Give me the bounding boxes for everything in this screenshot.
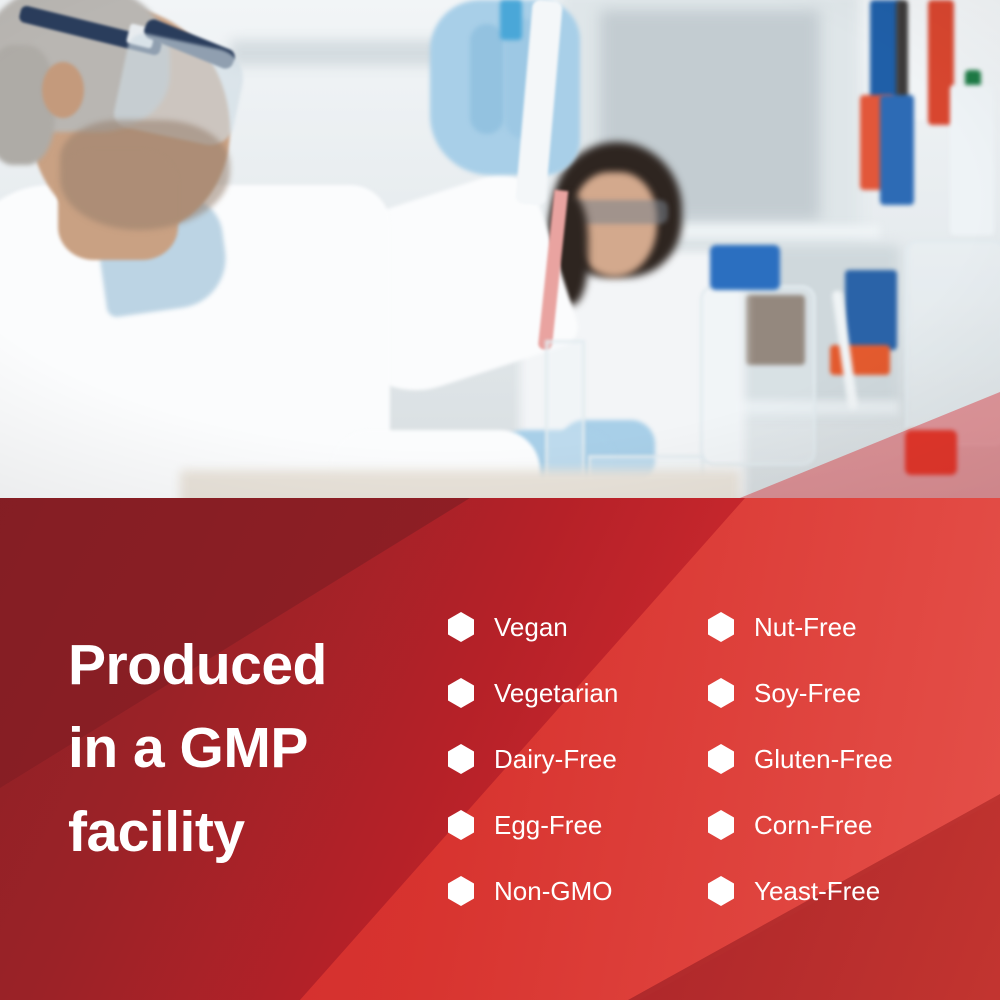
claim-item-corn-free: Corn-Free bbox=[708, 792, 968, 858]
claim-label: Non-GMO bbox=[494, 878, 612, 904]
headline-line-1: Produced bbox=[68, 624, 428, 707]
claim-label: Yeast-Free bbox=[754, 878, 880, 904]
claim-label: Vegan bbox=[494, 614, 568, 640]
claims-column-left: Vegan Vegetarian Dairy-Free Egg-Free bbox=[448, 594, 708, 924]
hexagon-icon bbox=[448, 612, 474, 642]
claim-label: Gluten-Free bbox=[754, 746, 893, 772]
claim-label: Corn-Free bbox=[754, 812, 872, 838]
hexagon-icon bbox=[708, 678, 734, 708]
claim-item-yeast-free: Yeast-Free bbox=[708, 858, 968, 924]
headline-line-2: in a GMP bbox=[68, 707, 428, 790]
panel-content: Produced in a GMP facility Vegan Vegetar… bbox=[0, 498, 1000, 1000]
photo-vignette bbox=[0, 0, 1000, 500]
hexagon-icon bbox=[708, 744, 734, 774]
claim-label: Nut-Free bbox=[754, 614, 857, 640]
claim-item-egg-free: Egg-Free bbox=[448, 792, 708, 858]
claim-item-vegetarian: Vegetarian bbox=[448, 660, 708, 726]
hexagon-icon bbox=[448, 744, 474, 774]
claim-item-soy-free: Soy-Free bbox=[708, 660, 968, 726]
claim-label: Egg-Free bbox=[494, 812, 602, 838]
claims-list: Vegan Vegetarian Dairy-Free Egg-Free bbox=[448, 594, 968, 924]
red-claims-panel: Produced in a GMP facility Vegan Vegetar… bbox=[0, 498, 1000, 1000]
claim-item-non-gmo: Non-GMO bbox=[448, 858, 708, 924]
claim-label: Soy-Free bbox=[754, 680, 861, 706]
claim-item-gluten-free: Gluten-Free bbox=[708, 726, 968, 792]
hexagon-icon bbox=[448, 876, 474, 906]
claim-item-vegan: Vegan bbox=[448, 594, 708, 660]
hexagon-icon bbox=[448, 810, 474, 840]
hexagon-icon bbox=[708, 810, 734, 840]
claim-item-dairy-free: Dairy-Free bbox=[448, 726, 708, 792]
claim-item-nut-free: Nut-Free bbox=[708, 594, 968, 660]
hexagon-icon bbox=[448, 678, 474, 708]
claims-column-right: Nut-Free Soy-Free Gluten-Free Corn-Free bbox=[708, 594, 968, 924]
claim-label: Vegetarian bbox=[494, 680, 618, 706]
laboratory-photo bbox=[0, 0, 1000, 500]
headline-line-3: facility bbox=[68, 791, 428, 874]
hexagon-icon bbox=[708, 612, 734, 642]
hexagon-icon bbox=[708, 876, 734, 906]
page-title: Produced in a GMP facility bbox=[68, 624, 428, 874]
claim-label: Dairy-Free bbox=[494, 746, 617, 772]
product-claims-banner: Produced in a GMP facility Vegan Vegetar… bbox=[0, 0, 1000, 1000]
